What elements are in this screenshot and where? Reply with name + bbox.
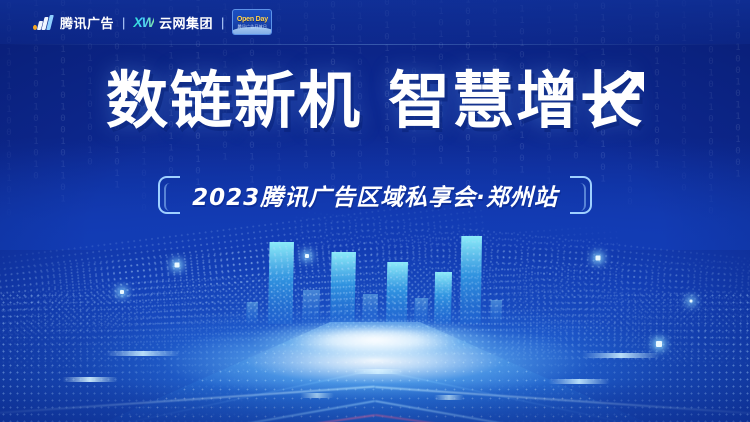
- tencent-brand-label: 腾讯广告: [60, 13, 114, 32]
- partner-brand-label: 云网集团: [159, 13, 213, 32]
- bracket-left-icon: [158, 176, 180, 214]
- brand-separator-2: |: [221, 15, 224, 30]
- open-day-badge: Open Day 腾讯广告开放日: [232, 9, 272, 35]
- brand-separator-1: |: [122, 15, 125, 30]
- hero-title-block: 数链新机智慧增长: [0, 70, 750, 132]
- subtitle-text: 2023腾讯广告区域私享会·郑州站: [192, 178, 558, 212]
- subtitle-frame: 2023腾讯广告区域私享会·郑州站: [158, 176, 592, 214]
- header-bar: 腾讯广告 | XW 云网集团 | Open Day 腾讯广告开放日: [0, 0, 750, 44]
- subtitle-block: 2023腾讯广告区域私享会·郑州站: [0, 176, 750, 214]
- badge-arc-shape: [232, 27, 272, 35]
- open-day-badge-title: Open Day: [237, 16, 268, 23]
- hero-title-part1: 数链新机: [106, 64, 362, 137]
- hero-title: 数链新机智慧增长: [106, 70, 644, 132]
- bracket-right-icon: [570, 176, 592, 214]
- poster-canvas: 1010010110100101101001101001011001011010…: [0, 0, 750, 422]
- logo-lockup: 腾讯广告 | XW 云网集团 | Open Day 腾讯广告开放日: [33, 9, 272, 35]
- header-divider: [0, 44, 750, 45]
- yunwang-mark-icon: XW: [133, 14, 154, 30]
- hero-title-part2: 智慧增长: [388, 64, 644, 137]
- tencent-ads-logo-icon: [33, 15, 55, 30]
